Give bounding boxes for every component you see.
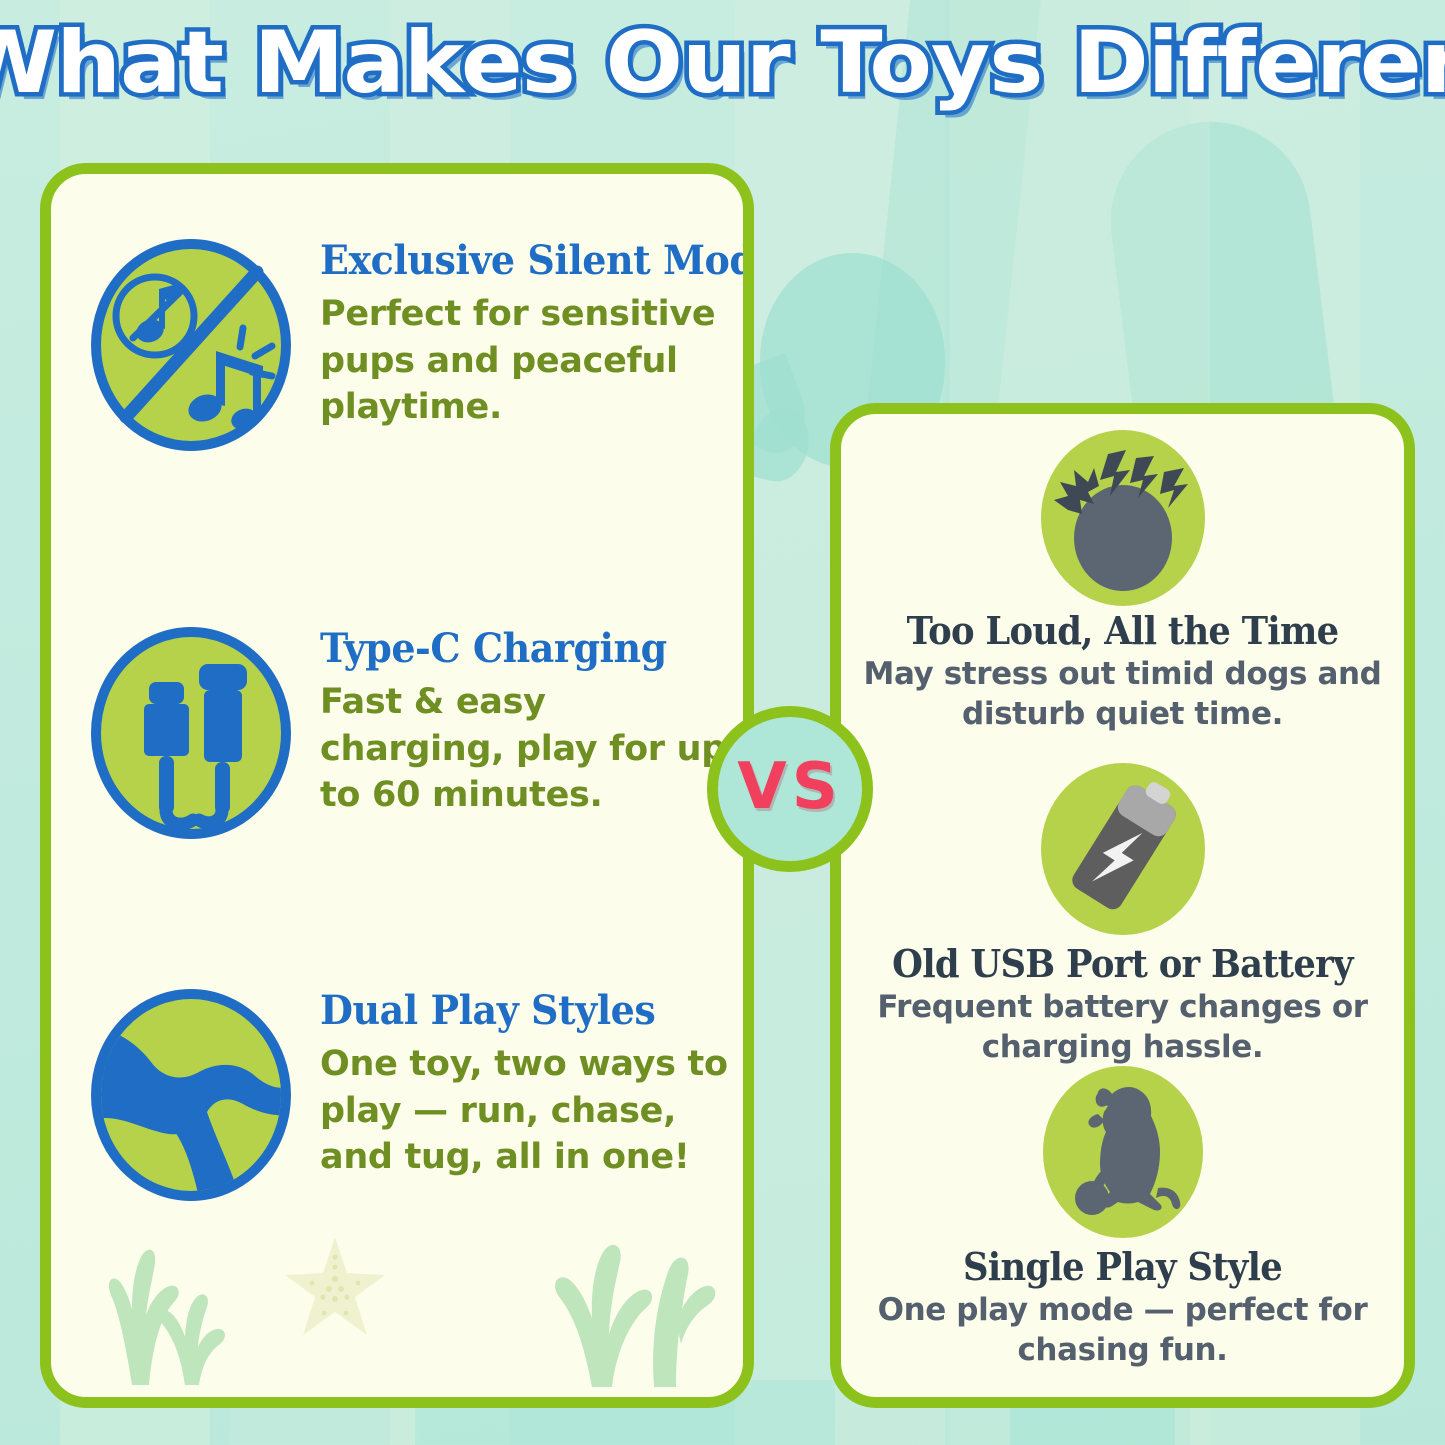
no-sound-music-note-icon	[89, 236, 294, 454]
drawback-title: Old USB Port or Battery	[861, 943, 1385, 984]
feature-row: Dual Play Styles One toy, two ways to pl…	[89, 986, 729, 1204]
drawbacks-card: Too Loud, All the Time May stress out ti…	[830, 403, 1415, 1408]
feature-description: Perfect for sensitive pups and peaceful …	[320, 291, 754, 431]
loud-noisy-ball-icon	[1038, 428, 1208, 608]
feature-row: Type-C Charging Fast & easy charging, pl…	[89, 624, 729, 842]
drawback-row: Too Loud, All the Time May stress out ti…	[841, 428, 1404, 735]
feature-row: Exclusive Silent Mode Perfect for sensit…	[89, 236, 729, 454]
feature-title: Type-C Charging	[320, 628, 709, 670]
starfish-icon	[279, 1233, 391, 1345]
versus-label: VS	[737, 755, 843, 819]
drawback-title: Single Play Style	[861, 1246, 1385, 1287]
page-title: What Makes Our Toys Different	[0, 18, 1445, 108]
feature-title: Exclusive Silent Mode	[320, 240, 754, 282]
drawback-description: Frequent battery changes or charging has…	[841, 987, 1404, 1068]
feature-text: Type-C Charging Fast & easy charging, pl…	[320, 624, 729, 819]
coral-right-icon	[534, 1194, 719, 1389]
feature-description: One toy, two ways to play — run, chase, …	[320, 1041, 729, 1181]
drawback-title: Too Loud, All the Time	[861, 610, 1385, 651]
dog-with-ball-icon	[1038, 1064, 1208, 1244]
drawback-description: One play mode — perfect for chasing fun.	[841, 1290, 1404, 1371]
benefits-card: Exclusive Silent Mode Perfect for sensit…	[40, 163, 754, 1408]
feature-text: Exclusive Silent Mode Perfect for sensit…	[320, 236, 754, 431]
dual-play-globe-icon	[89, 986, 294, 1204]
drawback-row: Old USB Port or Battery Frequent battery…	[841, 761, 1404, 1068]
feature-description: Fast & easy charging, play for up to 60 …	[320, 679, 729, 819]
feature-title: Dual Play Styles	[320, 990, 709, 1032]
feature-text: Dual Play Styles One toy, two ways to pl…	[320, 986, 729, 1181]
usb-type-c-cable-icon	[89, 624, 294, 842]
drawback-row: Single Play Style One play mode — perfec…	[841, 1064, 1404, 1371]
coral-left-icon	[99, 1217, 249, 1387]
old-battery-icon	[1038, 761, 1208, 941]
drawback-description: May stress out timid dogs and disturb qu…	[841, 654, 1404, 735]
versus-badge: VS	[707, 706, 873, 872]
